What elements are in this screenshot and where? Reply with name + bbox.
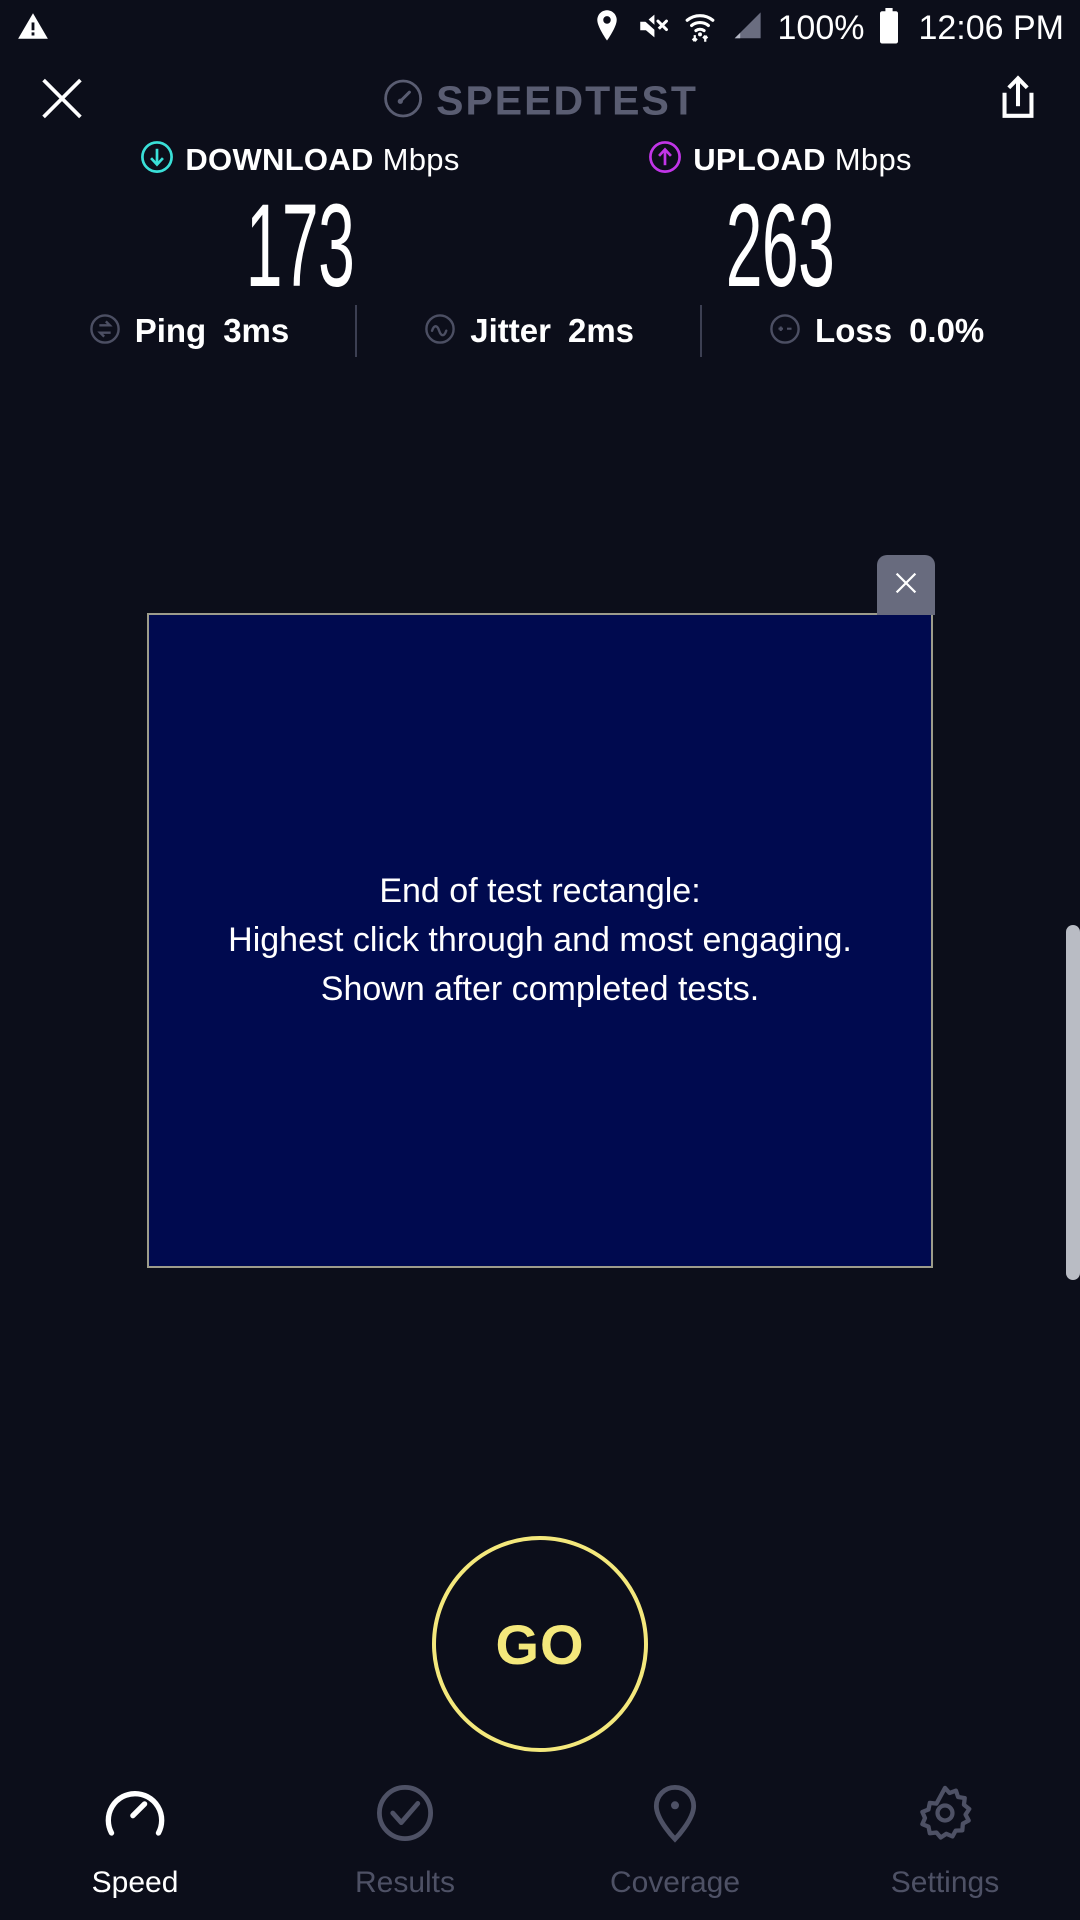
speedtest-logo: SPEEDTEST xyxy=(382,78,698,125)
ad-line-3: Shown after completed tests. xyxy=(228,965,852,1014)
divider xyxy=(355,305,357,357)
jitter-label: Jitter xyxy=(470,312,551,350)
upload-value: 263 xyxy=(662,187,897,305)
jitter-value: 2ms xyxy=(568,312,634,350)
nav-label-settings: Settings xyxy=(891,1866,999,1900)
divider xyxy=(700,305,702,357)
ping-label: Ping xyxy=(135,312,207,350)
ad-banner[interactable]: End of test rectangle: Highest click thr… xyxy=(147,613,933,1268)
upload-header: UPLOAD Mbps xyxy=(570,140,990,179)
go-button[interactable]: GO xyxy=(432,1536,648,1752)
go-button-label: GO xyxy=(495,1612,584,1677)
ad-text: End of test rectangle: Highest click thr… xyxy=(228,867,852,1014)
status-bar-left xyxy=(16,9,50,48)
speedometer-icon xyxy=(103,1781,167,1850)
check-circle-icon xyxy=(373,1781,437,1850)
volume-mute-icon xyxy=(636,9,670,48)
advertisement[interactable]: End of test rectangle: Highest click thr… xyxy=(147,613,933,1268)
status-bar: 100% 12:06 PM xyxy=(0,0,1080,56)
cell-signal-icon xyxy=(730,11,764,46)
speedtest-app: 100% 12:06 PM xyxy=(0,0,1080,1920)
battery-full-icon xyxy=(878,8,900,49)
bottom-navigation: Speed Results Coverage xyxy=(0,1760,1080,1920)
nav-item-settings[interactable]: Settings xyxy=(810,1781,1080,1900)
ad-line-1: End of test rectangle: xyxy=(228,867,852,916)
nav-label-speed: Speed xyxy=(92,1866,179,1900)
ping-metric: Ping 3ms xyxy=(88,312,290,351)
results-summary: DOWNLOAD Mbps 173 UPLOAD Mbps 263 xyxy=(0,140,1080,305)
loss-icon xyxy=(768,312,802,351)
ping-icon xyxy=(88,312,122,351)
close-icon xyxy=(36,112,88,129)
download-metric: DOWNLOAD Mbps 173 xyxy=(90,140,510,305)
close-icon xyxy=(891,568,921,603)
app-title: SPEEDTEST xyxy=(436,78,698,125)
ad-close-button[interactable] xyxy=(877,555,935,615)
download-header: DOWNLOAD Mbps xyxy=(90,140,510,179)
jitter-wave-icon xyxy=(423,312,457,351)
battery-percent-label: 100% xyxy=(778,9,865,48)
app-header: SPEEDTEST xyxy=(0,58,1080,144)
share-icon xyxy=(994,111,1042,128)
gear-icon xyxy=(913,1781,977,1850)
loss-label: Loss xyxy=(815,312,892,350)
nav-item-coverage[interactable]: Coverage xyxy=(540,1781,810,1900)
upload-metric: UPLOAD Mbps 263 xyxy=(570,140,990,305)
download-value: 173 xyxy=(182,187,417,305)
ping-value: 3ms xyxy=(223,312,289,350)
loss-value: 0.0% xyxy=(909,312,984,350)
nav-item-speed[interactable]: Speed xyxy=(0,1781,270,1900)
speedometer-icon xyxy=(382,78,424,125)
wifi-icon xyxy=(684,9,716,48)
arrow-up-circle-icon xyxy=(648,140,682,179)
close-button[interactable] xyxy=(36,73,88,130)
vertical-scrollbar[interactable] xyxy=(1066,925,1080,1280)
jitter-metric: Jitter 2ms xyxy=(423,312,634,351)
share-button[interactable] xyxy=(994,74,1042,129)
map-pin-icon xyxy=(643,1781,707,1850)
location-pin-icon xyxy=(592,9,622,48)
speed-metrics-row: DOWNLOAD Mbps 173 UPLOAD Mbps 263 xyxy=(0,140,1080,305)
upload-label: UPLOAD Mbps xyxy=(693,142,912,178)
loss-metric: Loss 0.0% xyxy=(768,312,984,351)
status-bar-right: 100% 12:06 PM xyxy=(592,8,1065,49)
network-quality-row: Ping 3ms Jitter 2ms xyxy=(0,305,1080,357)
download-label: DOWNLOAD Mbps xyxy=(185,142,459,178)
arrow-down-circle-icon xyxy=(140,140,174,179)
clock-label: 12:06 PM xyxy=(918,9,1064,48)
nav-label-coverage: Coverage xyxy=(610,1866,740,1900)
nav-label-results: Results xyxy=(355,1866,455,1900)
warning-triangle-icon xyxy=(16,9,50,48)
ad-line-2: Highest click through and most engaging. xyxy=(228,916,852,965)
nav-item-results[interactable]: Results xyxy=(270,1781,540,1900)
